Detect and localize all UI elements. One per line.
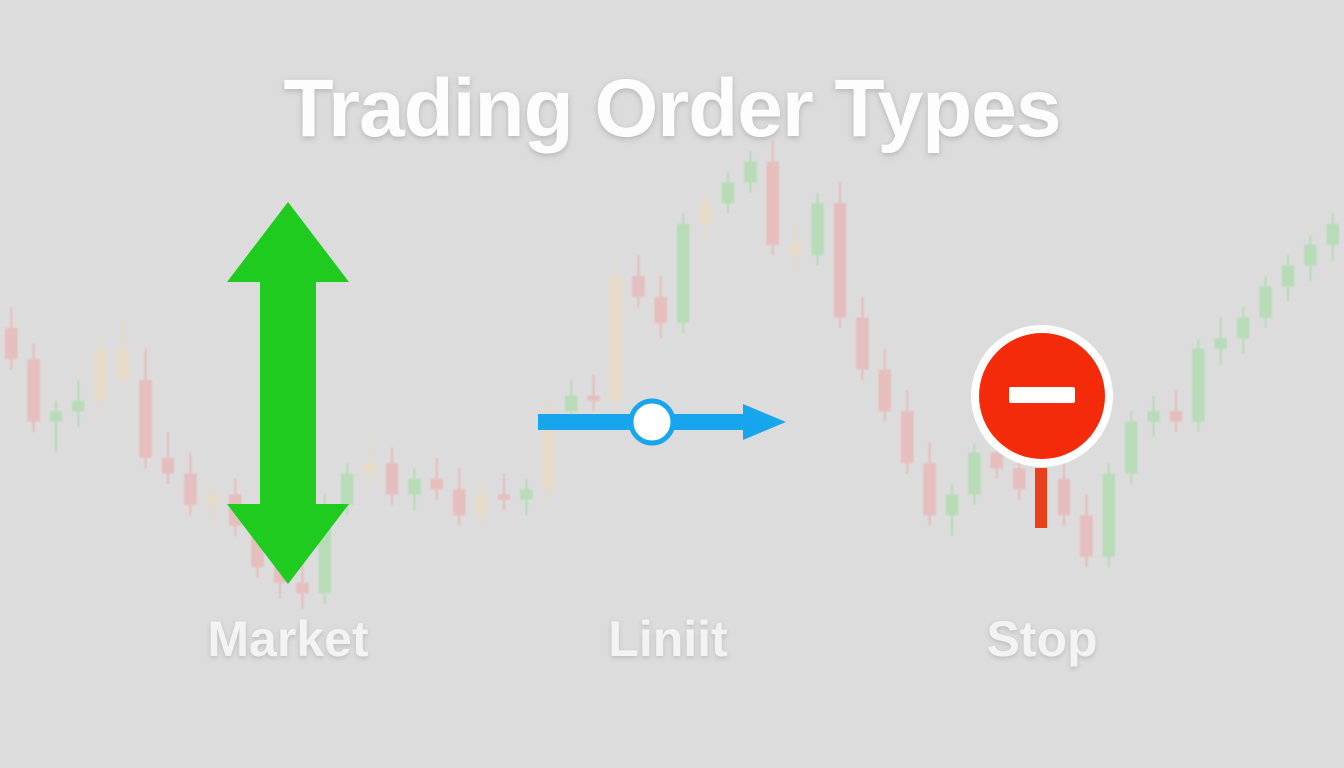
order-type-market-label: Market [118, 610, 458, 668]
order-type-market[interactable]: Market [118, 180, 458, 680]
order-type-stop[interactable]: Stop [872, 180, 1212, 680]
no-entry-sign-icon [967, 318, 1117, 540]
infographic-canvas: Trading Order Types Market Liniit Stop [0, 0, 1344, 768]
horizontal-arrow-with-handle-icon [538, 390, 798, 454]
order-type-limit-label: Liniit [498, 610, 838, 668]
page-title: Trading Order Types [0, 62, 1344, 156]
order-type-limit[interactable]: Liniit [498, 180, 838, 680]
double-headed-vertical-arrow-icon [223, 198, 353, 588]
order-type-stop-label: Stop [872, 610, 1212, 668]
